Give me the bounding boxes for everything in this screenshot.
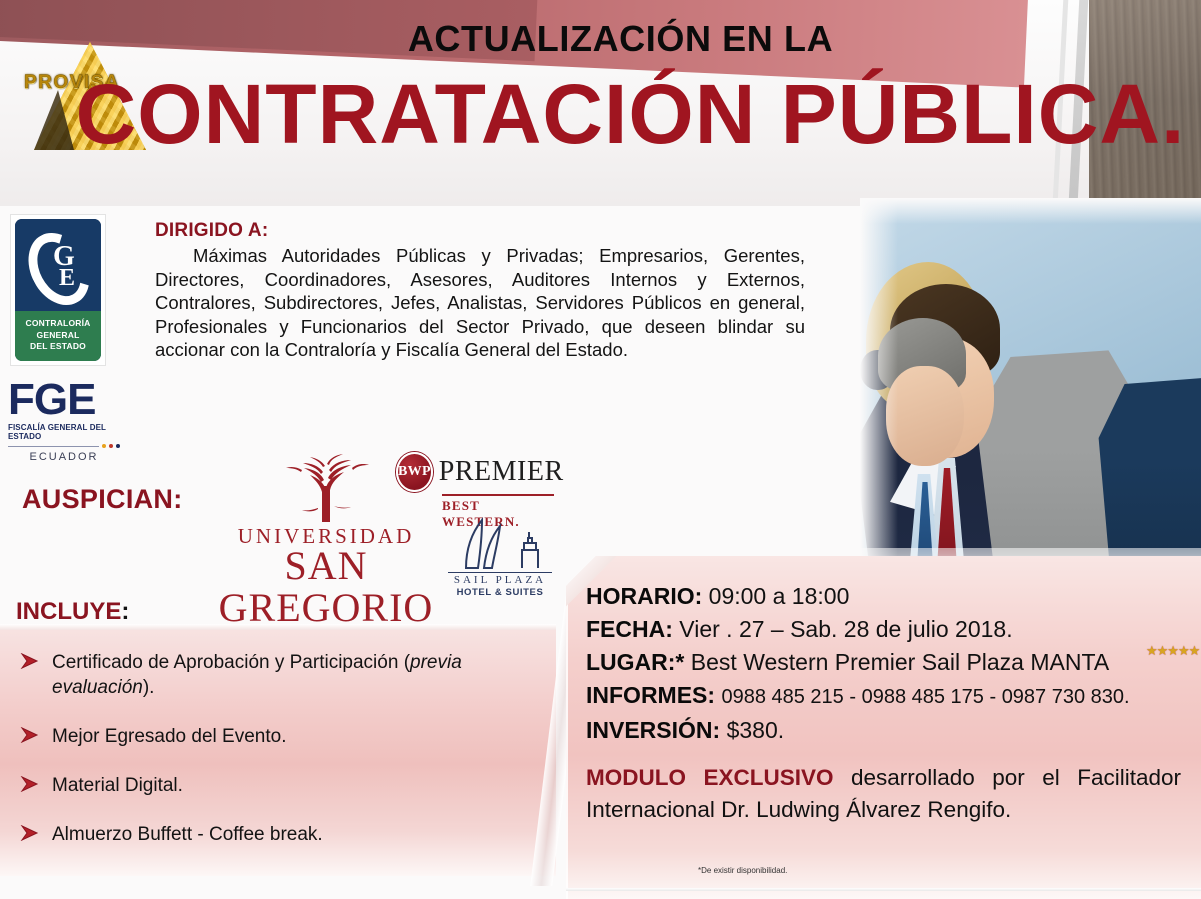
- cge-line-3: DEL ESTADO: [15, 341, 101, 353]
- cge-logo: G E CONTRALORÍA GENERAL DEL ESTADO: [10, 214, 106, 366]
- fge-divider: [8, 444, 120, 448]
- arrow-bullet-icon: [20, 650, 42, 700]
- sail-plaza-logo: SAIL PLAZA HOTEL & SUITES: [448, 516, 552, 598]
- hotel-star-rating: ★★★★★: [1146, 643, 1199, 659]
- arrow-bullet-icon: [20, 773, 42, 798]
- photo-fade-top: [860, 198, 1201, 224]
- list-item-text: Mejor Egresado del Evento.: [52, 724, 286, 749]
- detail-row-inversion: INVERSIÓN: $380.: [586, 714, 1186, 747]
- audience-heading: DIRIGIDO A:: [155, 220, 805, 242]
- fge-dot-yellow: [102, 444, 106, 448]
- bwp-badge-icon: BWP: [396, 452, 433, 492]
- detail-key: LUGAR:*: [586, 649, 684, 675]
- sail-icon: [448, 516, 552, 572]
- detail-value: $380.: [727, 717, 785, 743]
- cge-line-1: CONTRALORÍA: [15, 318, 101, 330]
- page-title: CONTRATACIÓN PÚBLICA.: [0, 72, 1201, 156]
- business-meeting-photo: [860, 198, 1201, 588]
- fge-acronym: FGE: [8, 378, 120, 422]
- cge-emblem-field: G E: [15, 219, 101, 319]
- list-item: Almuerzo Buffett - Coffee break.: [20, 822, 540, 847]
- detail-key: INFORMES:: [586, 682, 715, 708]
- exclusive-module-text: MODULO EXCLUSIVO desarrollado por el Fac…: [586, 762, 1181, 826]
- sail-plaza-name: SAIL PLAZA: [448, 572, 552, 586]
- list-item-text: Certificado de Aprobación y Participació…: [52, 650, 540, 700]
- audience-body: Máximas Autoridades Públicas y Privadas;…: [155, 244, 805, 362]
- photo-fade-left: [860, 198, 898, 588]
- fge-subtitle: FISCALÍA GENERAL DEL ESTADO: [8, 423, 120, 441]
- list-item-text: Material Digital.: [52, 773, 183, 798]
- fge-country: ECUADOR: [8, 451, 120, 463]
- includes-panel: Certificado de Aprobación y Participació…: [0, 628, 556, 876]
- event-details-rows: HORARIO: 09:00 a 18:00 FECHA: Vier . 27 …: [586, 580, 1186, 747]
- detail-row-lugar: LUGAR:* Best Western Premier Sail Plaza …: [586, 646, 1186, 679]
- fge-dot-blue: [116, 444, 120, 448]
- details-bottom-rule: [566, 888, 1201, 891]
- list-item-text: Almuerzo Buffett - Coffee break.: [52, 822, 323, 847]
- list-item: Mejor Egresado del Evento.: [20, 724, 540, 749]
- list-item: Material Digital.: [20, 773, 540, 798]
- cge-line-2: GENERAL: [15, 330, 101, 342]
- detail-value: Best Western Premier Sail Plaza MANTA: [691, 649, 1109, 675]
- poster-canvas: PROVISA ACTUALIZACIÓN EN LA CONTRATACIÓN…: [0, 0, 1201, 899]
- arrow-bullet-icon: [20, 724, 42, 749]
- bw-premier-word: PREMIER: [439, 456, 564, 488]
- sponsors-label: AUSPICIAN:: [22, 484, 183, 515]
- detail-value: Vier . 27 – Sab. 28 de julio 2018.: [679, 616, 1012, 642]
- detail-key: INVERSIÓN:: [586, 717, 720, 743]
- availability-footnote: *De existir disponibilidad.: [698, 866, 787, 875]
- detail-value: 09:00 a 18:00: [709, 583, 850, 609]
- includes-list: Certificado de Aprobación y Participació…: [20, 650, 540, 871]
- detail-row-fecha: FECHA: Vier . 27 – Sab. 28 de julio 2018…: [586, 613, 1186, 646]
- detail-key: FECHA:: [586, 616, 673, 642]
- list-item: Certificado de Aprobación y Participació…: [20, 650, 540, 700]
- detail-row-informes: INFORMES: 0988 485 215 - 0988 485 175 - …: [586, 679, 1186, 714]
- detail-value: 0988 485 215 - 0988 485 175 - 0987 730 8…: [721, 686, 1129, 708]
- header-kicker: ACTUALIZACIÓN EN LA: [0, 18, 1201, 60]
- arrow-bullet-icon: [20, 822, 42, 847]
- cge-e-letter: E: [59, 265, 75, 292]
- detail-key: HORARIO:: [586, 583, 702, 609]
- audience-block: DIRIGIDO A: Máximas Autoridades Públicas…: [155, 220, 805, 362]
- exclusive-module-highlight: MODULO EXCLUSIVO: [586, 765, 833, 790]
- cge-name-band: CONTRALORÍA GENERAL DEL ESTADO: [15, 311, 101, 361]
- includes-heading: INCLUYE:: [16, 598, 129, 626]
- fge-logo: FGE FISCALÍA GENERAL DEL ESTADO ECUADOR: [8, 378, 120, 456]
- fge-dot-red: [109, 444, 113, 448]
- detail-row-horario: HORARIO: 09:00 a 18:00: [586, 580, 1186, 613]
- bw-divider: [442, 494, 554, 496]
